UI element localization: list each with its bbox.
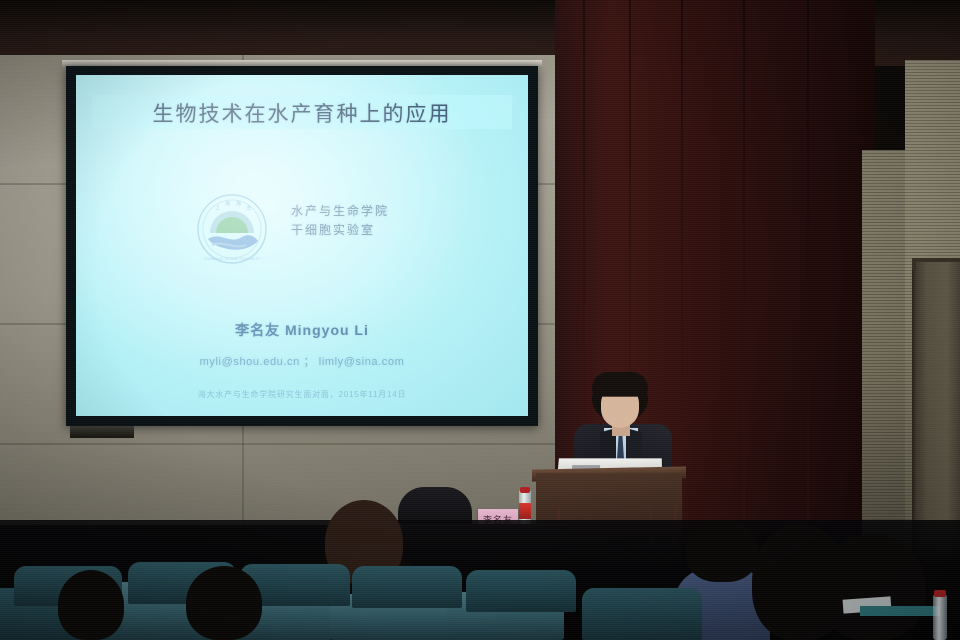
water-bottle-cap xyxy=(520,487,530,493)
seat-row-back-6[interactable] xyxy=(582,588,702,640)
slide-presenter-name: 李名友 Mingyou Li xyxy=(76,320,528,340)
audience-member-foreground-right-2-head xyxy=(818,534,926,640)
slide-title: 生物技术在水产育种上的应用 xyxy=(92,96,512,129)
slide-organization: 水产与生命学院 干细胞实验室 xyxy=(291,202,389,240)
seat-row-back-5[interactable] xyxy=(466,570,576,612)
projection-screen: 生物技术在水产育种上的应用 上海 海洋 SHANGHAI OCEAN UNIVE… xyxy=(76,75,528,416)
lecture-hall-photo: 生物技术在水产育种上的应用 上海 海洋 SHANGHAI OCEAN UNIVE… xyxy=(0,0,960,640)
shanghai-ocean-university-logo: 上海 海洋 SHANGHAI OCEAN UNIVERSITY xyxy=(196,193,268,265)
audience-member-2-head xyxy=(186,566,262,640)
slide-presenter-emails: myli@shou.edu.cn ； limly@sina.com xyxy=(76,353,528,369)
svg-text:海: 海 xyxy=(236,200,241,207)
organization-line-1: 水产与生命学院 xyxy=(291,202,389,221)
svg-text:洋: 洋 xyxy=(246,205,251,212)
projection-screen-frame: 生物技术在水产育种上的应用 上海 海洋 SHANGHAI OCEAN UNIVE… xyxy=(66,66,538,426)
hair-fringe xyxy=(592,372,648,396)
svg-text:海: 海 xyxy=(225,200,230,207)
ribbed-wall-panel-inner xyxy=(862,150,910,580)
eyeglasses-icon xyxy=(602,396,638,405)
svg-text:上: 上 xyxy=(215,204,220,211)
audience-member-1-head xyxy=(58,570,124,640)
svg-text:SHANGHAI OCEAN UNIVERSITY: SHANGHAI OCEAN UNIVERSITY xyxy=(204,257,260,261)
water-bottle-label xyxy=(519,503,531,519)
water-bottle-audience-cap xyxy=(934,590,946,597)
screen-stand-foot xyxy=(70,426,134,438)
seat-row-back-4[interactable] xyxy=(352,566,462,608)
audience-member-blue-shirt-head xyxy=(686,520,758,582)
seat-row-right-edge[interactable] xyxy=(860,606,940,616)
organization-line-2: 干细胞实验室 xyxy=(291,221,389,240)
water-bottle-audience[interactable] xyxy=(933,594,947,640)
slide-footer-text: 海大水产与生命学院研究生面对面，2015年11月14日 xyxy=(76,389,528,400)
